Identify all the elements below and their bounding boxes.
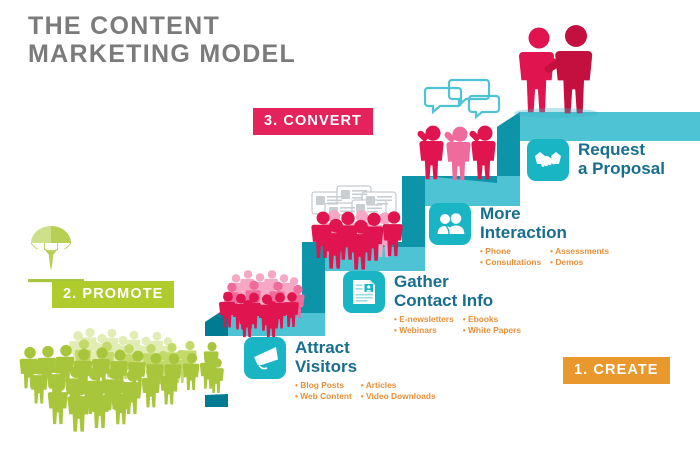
two-people-icon [429,203,471,245]
bullets-left-attract: Blog Posts Web Content [295,380,352,403]
bullets-right-gather: Ebooks White Papers [463,314,521,337]
bullets-right-attract: Articles Video Downloads [361,380,436,403]
bullet-item: Assessments [550,246,609,257]
green-crowd-figures [20,328,224,432]
infographic-canvas: THE CONTENT MARKETING MODEL 3. CONVERT 2… [0,0,700,465]
bullet-item: White Papers [463,325,521,336]
bullet-item: E-newsletters [394,314,454,325]
bullet-item: Ebooks [463,314,521,325]
step-heading-interaction: More Interaction [480,203,567,242]
step-heading-attract: Attract Visitors [295,337,357,376]
stage-badge-create[interactable]: 1. CREATE [563,357,670,384]
step-block-gather[interactable]: Gather Contact Info E-newsletters Webina… [343,271,521,337]
step-block-interaction[interactable]: More Interaction Phone Consultations Ass… [429,203,609,269]
bullets-right-interaction: Assessments Demos [550,246,609,269]
step-bullets-interaction: Phone Consultations Assessments Demos [480,246,609,269]
handshake-icon [527,139,569,181]
step-block-attract[interactable]: Attract Visitors Blog Posts Web Content … [244,337,436,403]
megaphone-icon [244,337,286,379]
stage-badge-promote[interactable]: 2. PROMOTE [52,281,174,308]
bullet-item: Demos [550,257,609,268]
bullet-item: Consultations [480,257,541,268]
bullet-item: Blog Posts [295,380,352,391]
pink-people-on-phones-with-speech-bubbles [417,80,499,180]
bullets-left-interaction: Phone Consultations [480,246,541,269]
step-1-riser-base [205,394,228,407]
stage-badge-convert[interactable]: 3. CONVERT [253,108,373,135]
step-heading-gather: Gather Contact Info [394,271,493,310]
bullet-item: Web Content [295,391,352,402]
pink-pair-shaking-hands [514,25,598,118]
contact-card-icon [343,271,385,313]
page-title: THE CONTENT MARKETING MODEL [28,12,296,68]
step-bullets-attract: Blog Posts Web Content Articles Video Do… [295,380,436,403]
parachute-icon [28,226,84,282]
step-block-proposal[interactable]: Request a Proposal [527,139,665,181]
bullet-item: Webinars [394,325,454,336]
bullet-item: Phone [480,246,541,257]
step-bullets-gather: E-newsletters Webinars Ebooks White Pape… [394,314,521,337]
bullet-item: Articles [361,380,436,391]
step-heading-proposal: Request a Proposal [578,139,665,178]
bullet-item: Video Downloads [361,391,436,402]
bullets-left-gather: E-newsletters Webinars [394,314,454,337]
